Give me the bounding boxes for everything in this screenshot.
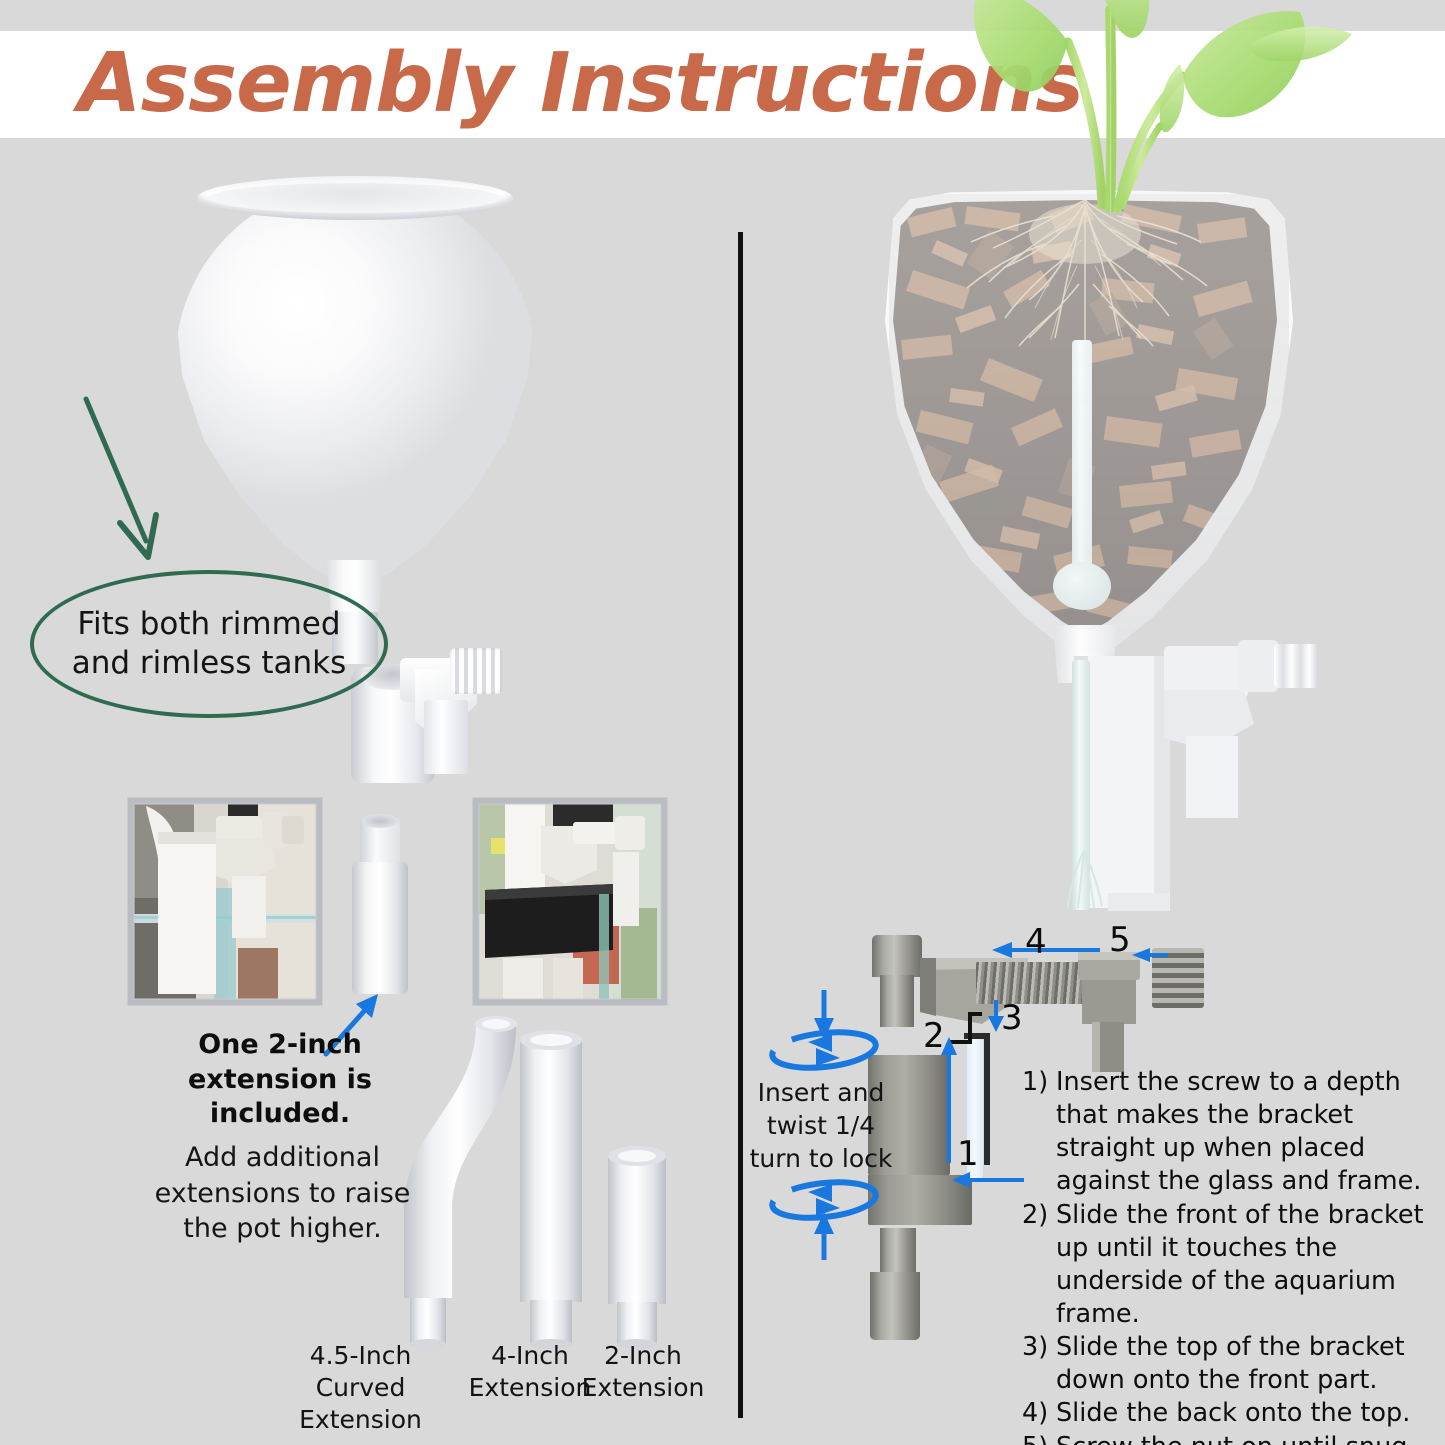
curved-extension-label-line-3: Extension <box>278 1404 443 1436</box>
step-number: 4) <box>1022 1397 1056 1430</box>
exploded-lower-tube <box>870 1272 920 1340</box>
two-inch-extension-label: 2-Inch Extension <box>568 1340 718 1404</box>
page-title: Assembly Instructions <box>78 36 978 132</box>
callout-label-1: 1 <box>957 1134 979 1174</box>
callout-line-2: and rimless tanks <box>72 644 346 683</box>
fits-tanks-callout-text: Fits both rimmed and rimless tanks <box>54 605 364 683</box>
two-inch-extension-part <box>598 1144 678 1350</box>
add-extensions-note: Add additional extensions to raise the p… <box>150 1140 415 1247</box>
two-inch-label-line-2: Extension <box>568 1372 718 1404</box>
included-note: One 2-inch extension is included. <box>155 1028 405 1132</box>
panel-divider <box>738 232 743 1418</box>
pot-body <box>175 184 535 584</box>
rope-frayed-end <box>1062 850 1106 910</box>
assembly-step: 5) Screw the nut on until snug. Do not <box>1022 1431 1442 1445</box>
included-note-line-2: extension is <box>155 1063 405 1098</box>
four-inch-extension-part <box>512 1028 592 1348</box>
callout-label-5: 5 <box>1109 920 1131 960</box>
down-arrow-icon <box>80 395 190 575</box>
step-number: 3) <box>1022 1331 1056 1397</box>
exploded-back-piece <box>1078 952 1144 1074</box>
add-note-line-1: Add additional <box>150 1140 415 1176</box>
twist-arrow-bottom-icon <box>760 1178 888 1262</box>
twist-arrow-top-icon <box>760 988 888 1072</box>
callout-label-4: 4 <box>1025 922 1047 962</box>
step-number: 5) <box>1022 1431 1056 1445</box>
insert-twist-note: Insert and twist 1/4 turn to lock <box>742 1076 900 1175</box>
plant-illustration <box>950 0 1370 230</box>
bracket-barrel <box>351 667 435 783</box>
step-text: Insert the screw to a depth that makes t… <box>1056 1066 1442 1199</box>
add-note-line-2: extensions to raise <box>150 1176 415 1212</box>
curved-extension-label-line-1: 4.5-Inch <box>278 1340 443 1372</box>
included-extension-body <box>352 862 408 994</box>
pot-illustration <box>175 168 535 638</box>
assembly-step: 4) Slide the back onto the top. <box>1022 1397 1442 1430</box>
two-inch-label-line-1: 2-Inch <box>568 1340 718 1372</box>
bracket-foot <box>424 700 468 774</box>
assembly-step: 1) Insert the screw to a depth that make… <box>1022 1066 1442 1199</box>
twist-note-line-1: Insert and <box>742 1076 900 1109</box>
callout-label-3: 3 <box>1001 998 1023 1038</box>
assembly-step: 3) Slide the top of the bracket down ont… <box>1022 1331 1442 1397</box>
bracket-thumb-nut <box>450 648 502 694</box>
planted-pot-cutaway <box>885 190 1285 660</box>
pot-shell-outline <box>885 190 1293 658</box>
step-number: 2) <box>1022 1199 1056 1332</box>
included-note-line-1: One 2-inch <box>155 1028 405 1063</box>
callout-label-2: 2 <box>923 1016 945 1056</box>
step-text: Slide the top of the bracket down onto t… <box>1056 1331 1442 1397</box>
curved-extension-label-line-2: Curved <box>278 1372 443 1404</box>
add-note-line-3: the pot higher. <box>150 1211 415 1247</box>
rimless-tank-photo <box>128 798 322 1005</box>
rimmed-tank-photo <box>473 798 667 1005</box>
callout-arrow-5 <box>1130 945 1168 965</box>
assembly-instructions-page: Assembly Instructions Fits both rimmed a… <box>0 0 1445 1445</box>
assembly-steps-list: 1) Insert the screw to a depth that make… <box>1022 1066 1442 1445</box>
step-text: Slide the front of the bracket up until … <box>1056 1199 1442 1332</box>
step-number: 1) <box>1022 1066 1056 1199</box>
twist-note-line-3: turn to lock <box>742 1142 900 1175</box>
included-note-line-3: included. <box>155 1097 405 1132</box>
twist-note-line-2: twist 1/4 <box>742 1109 900 1142</box>
step-text: Screw the nut on until snug. Do not <box>1056 1431 1442 1445</box>
installed-bracket <box>1068 628 1328 913</box>
bracket-neck <box>400 658 456 702</box>
pot-opening <box>209 183 501 213</box>
assembly-step: 2) Slide the front of the bracket up unt… <box>1022 1199 1442 1332</box>
included-extension-bore <box>362 814 398 828</box>
curved-extension-label: 4.5-Inch Curved Extension <box>278 1340 443 1436</box>
callout-line-1: Fits both rimmed <box>72 605 346 644</box>
exploded-upper-tube <box>872 935 922 977</box>
step-text: Slide the back onto the top. <box>1056 1397 1442 1430</box>
bracket-wedge <box>415 669 477 741</box>
fits-tanks-callout: Fits both rimmed and rimless tanks <box>30 570 388 718</box>
